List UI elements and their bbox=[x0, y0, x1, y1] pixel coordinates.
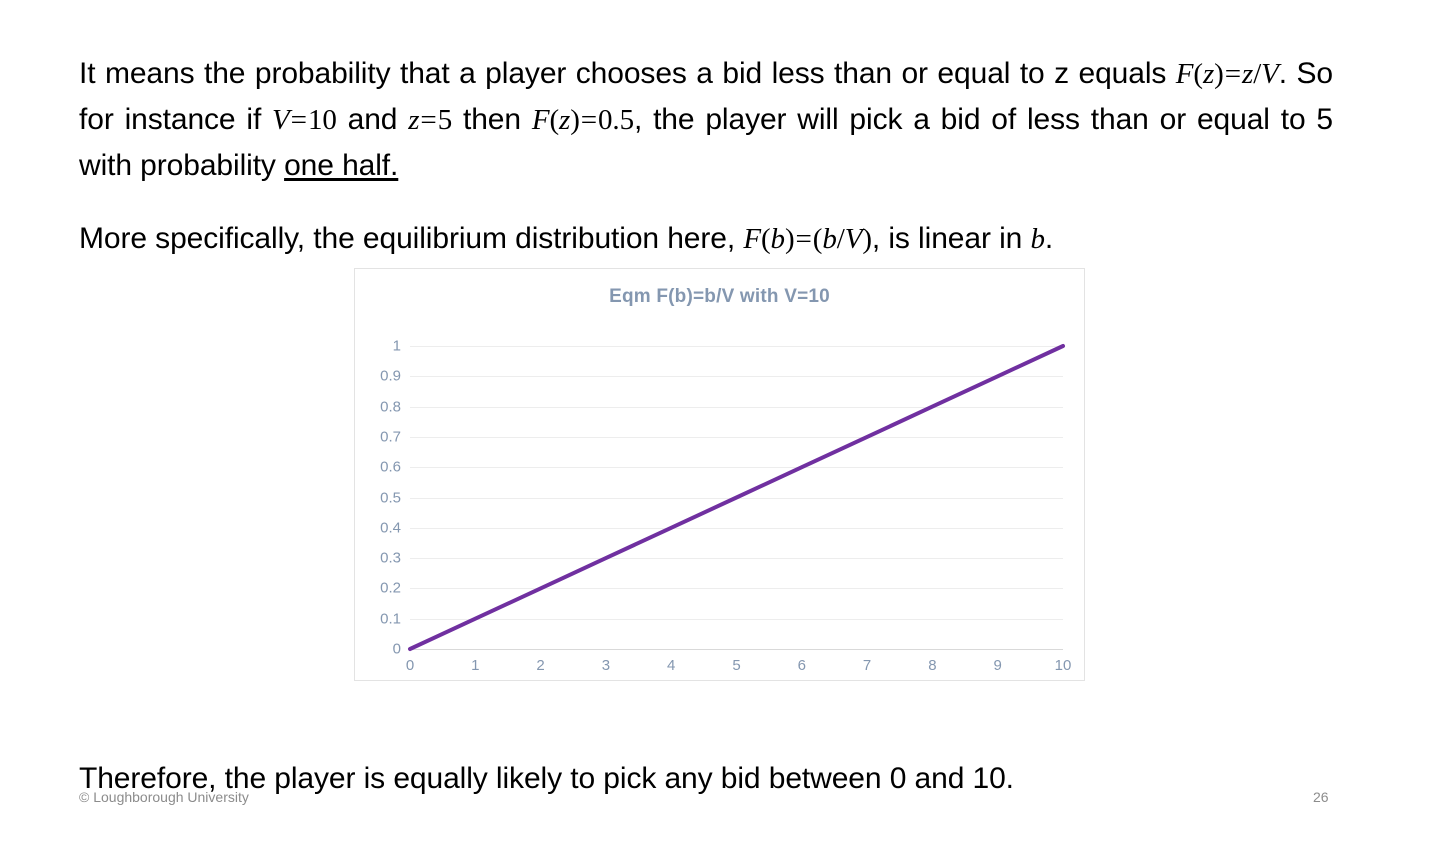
footer-copyright: © Loughborough University bbox=[79, 789, 249, 805]
y-tick-label: 0.6 bbox=[380, 459, 401, 476]
p1-math-V: V bbox=[1261, 58, 1279, 90]
x-tick-label: 7 bbox=[863, 657, 871, 674]
p1-math-z: z bbox=[1203, 58, 1214, 90]
x-tick-label: 8 bbox=[928, 657, 936, 674]
p2-text-segment-1: More specifically, the equilibrium distr… bbox=[79, 222, 743, 255]
p1-math-zero-point-five: 0.5 bbox=[598, 104, 634, 136]
y-tick-label: 0.4 bbox=[380, 519, 401, 536]
paragraph-three: Therefore, the player is equally likely … bbox=[79, 756, 1339, 801]
p2-math-b: b bbox=[771, 223, 785, 255]
p2-math-lparen: ( bbox=[761, 223, 771, 255]
p2-math-rparen: ) bbox=[785, 223, 795, 255]
p2-math-b3: b bbox=[1030, 223, 1044, 255]
chart-frame[interactable]: Eqm F(b)=b/V with V=10 00.10.20.30.40.50… bbox=[354, 268, 1085, 681]
y-tick-label: 0.8 bbox=[380, 398, 401, 415]
p1-text-segment-1: It means the probability that a player c… bbox=[79, 57, 1176, 90]
y-tick-label: 0.3 bbox=[380, 550, 401, 567]
chart-title: Eqm F(b)=b/V with V=10 bbox=[355, 286, 1084, 308]
p1-text-segment-3: and bbox=[337, 103, 408, 136]
p2-math-V: V bbox=[845, 223, 863, 255]
x-tick-label: 1 bbox=[471, 657, 479, 674]
p1-math-lparen: ( bbox=[1193, 58, 1203, 90]
p1-math-V2: V bbox=[272, 104, 290, 136]
x-tick-label: 10 bbox=[1055, 657, 1072, 674]
p1-text-segment-4: then bbox=[452, 103, 532, 136]
gridline bbox=[410, 649, 1063, 650]
paragraph-one: It means the probability that a player c… bbox=[79, 51, 1333, 188]
p2-math-lparen2: ( bbox=[813, 223, 823, 255]
y-tick-label: 1 bbox=[393, 338, 401, 355]
p2-math-b2: b bbox=[822, 223, 836, 255]
p1-math-F2: F bbox=[532, 104, 550, 136]
p1-math-rparen2: ) bbox=[570, 104, 580, 136]
p1-math-equals2: = bbox=[290, 104, 308, 136]
p1-math-equals: = bbox=[1224, 58, 1242, 90]
footer-page-number: 26 bbox=[1313, 789, 1329, 805]
x-tick-label: 0 bbox=[406, 657, 414, 674]
chart-series-layer bbox=[410, 346, 1063, 649]
y-tick-label: 0.9 bbox=[380, 368, 401, 385]
x-tick-label: 6 bbox=[798, 657, 806, 674]
p1-math-five: 5 bbox=[438, 104, 452, 136]
p1-math-slash: / bbox=[1253, 58, 1261, 90]
p2-text-segment-3: . bbox=[1045, 222, 1053, 255]
x-tick-label: 4 bbox=[667, 657, 675, 674]
p1-math-z4: z bbox=[559, 104, 570, 136]
x-tick-label: 5 bbox=[732, 657, 740, 674]
p2-text-segment-2: , is linear in bbox=[872, 222, 1031, 255]
x-tick-label: 2 bbox=[536, 657, 544, 674]
x-tick-label: 3 bbox=[602, 657, 610, 674]
y-tick-label: 0 bbox=[393, 641, 401, 658]
p1-math-rparen: ) bbox=[1214, 58, 1224, 90]
y-tick-label: 0.7 bbox=[380, 428, 401, 445]
p1-math-ten: 10 bbox=[308, 104, 337, 136]
p2-math-rparen2: ) bbox=[862, 223, 872, 255]
x-tick-label: 9 bbox=[994, 657, 1002, 674]
p2-math-equals: = bbox=[795, 223, 813, 255]
slide: It means the probability that a player c… bbox=[0, 0, 1444, 852]
p1-underlined-phrase: one half. bbox=[284, 149, 398, 182]
p1-math-equals4: = bbox=[580, 104, 598, 136]
p1-math-lparen2: ( bbox=[549, 104, 559, 136]
y-tick-label: 0.1 bbox=[380, 610, 401, 627]
p1-math-F: F bbox=[1176, 58, 1194, 90]
p1-math-z3: z bbox=[408, 104, 419, 136]
p2-math-slash: / bbox=[837, 223, 845, 255]
p1-math-z2: z bbox=[1242, 58, 1253, 90]
y-tick-label: 0.2 bbox=[380, 580, 401, 597]
p1-math-equals3: = bbox=[419, 104, 437, 136]
series-line-f-b bbox=[410, 346, 1063, 649]
paragraph-two: More specifically, the equilibrium distr… bbox=[79, 216, 1333, 262]
chart-plot-area: 00.10.20.30.40.50.60.70.80.91 0123456789… bbox=[410, 346, 1063, 649]
p2-math-F: F bbox=[743, 223, 761, 255]
y-tick-label: 0.5 bbox=[380, 489, 401, 506]
